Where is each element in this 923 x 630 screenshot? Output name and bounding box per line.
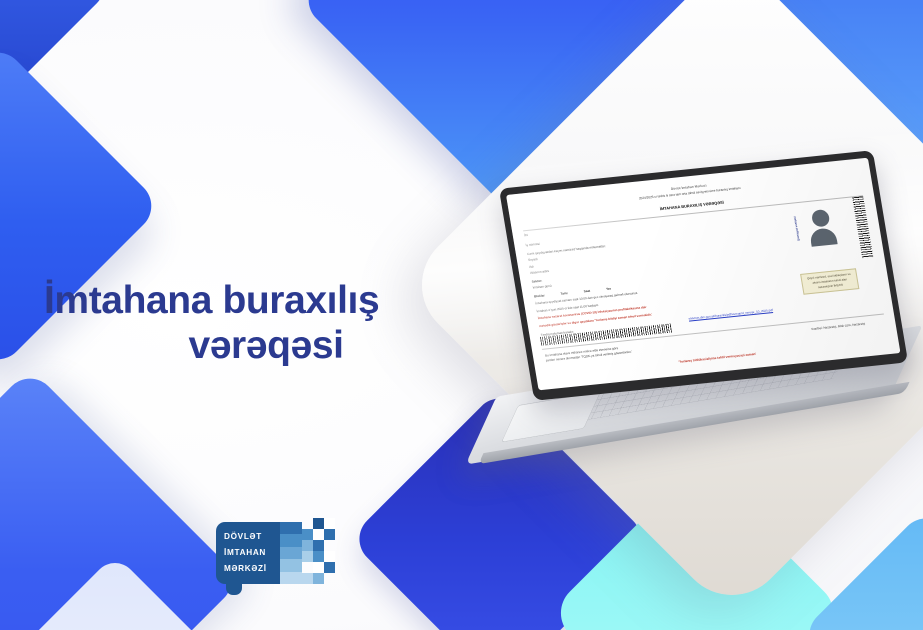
document-photo-placeholder	[797, 202, 846, 252]
logo-gradient-fan-icon	[280, 522, 302, 584]
logo-line-1: DÖVLƏT	[224, 529, 267, 545]
document-barcode-vertical	[852, 196, 873, 258]
admission-document: Dövlət İmtahan Mərkəzi 2024/2025-ci tədr…	[506, 158, 900, 391]
page-title-line2: vərəqəsi	[44, 323, 474, 368]
logo-pixel-blocks-icon	[302, 512, 348, 592]
avatar-body-icon	[809, 227, 838, 246]
document-footer-right: Vəzifəsi: Nəzarətçi, Blok üzrə, Nəzarətç…	[811, 322, 866, 332]
avatar-head-icon	[810, 209, 830, 228]
logo-line-2: İMTAHAN	[224, 545, 267, 561]
document-column-0: Bloklar	[534, 293, 545, 299]
document-column-3: Yer	[606, 286, 612, 291]
logo-line-3: MƏRKƏZİ	[224, 561, 267, 577]
dim-logo: DÖVLƏT İMTAHAN MƏRKƏZİ	[216, 518, 346, 590]
promo-banner: İmtahana buraxılış vərəqəsi DÖVLƏT İMTAH…	[0, 0, 923, 630]
document-column-1: Tarix	[560, 291, 568, 296]
laptop: Dövlət İmtahan Mərkəzi 2024/2025-ci tədr…	[516, 168, 916, 428]
laptop-screen: Dövlət İmtahan Mərkəzi 2024/2025-ci tədr…	[506, 158, 900, 391]
page-title-line1: İmtahana buraxılış	[44, 278, 474, 323]
document-column-2: Saat	[583, 289, 590, 294]
document-signature-note: Qeyd: namizəd, əsəl iddiaçıların və əksi…	[800, 268, 859, 294]
laptop-lid: Dövlət İmtahan Mərkəzi 2024/2025-ci tədr…	[499, 150, 908, 401]
logo-text: DÖVLƏT İMTAHAN MƏRKƏZİ	[224, 529, 267, 576]
page-title: İmtahana buraxılış vərəqəsi	[44, 278, 474, 368]
document-organization: Dövlət İmtahan Mərkəzi	[518, 168, 859, 208]
